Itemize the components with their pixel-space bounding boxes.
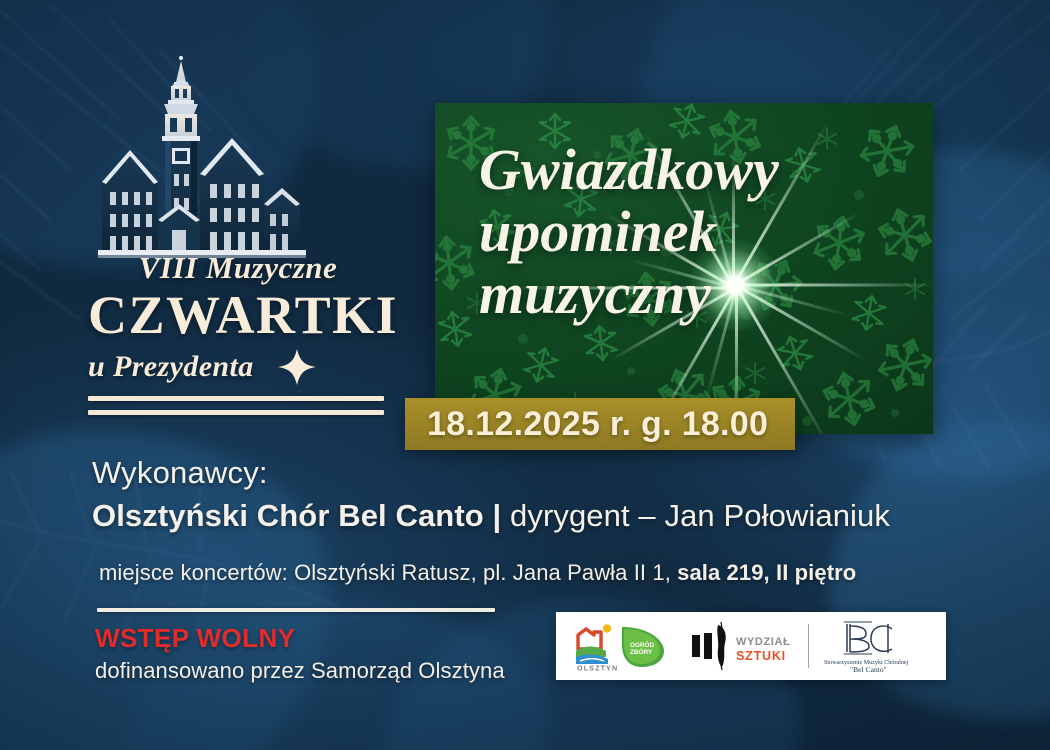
wydzial-sztuki-logo: WYDZIAŁ SZTUKI xyxy=(680,612,808,680)
bel-canto-logo: Stowarzyszenie Muzyki Chóralnej "Bel Can… xyxy=(809,612,935,680)
green-card-heading: Gwiazdkowy upominek muzyczny xyxy=(479,139,899,325)
green-card-heading-line-2: upominek xyxy=(479,201,899,263)
title-line-3: u Prezydenta xyxy=(88,350,254,384)
ogrod-logo-text-1: OGRÓD xyxy=(630,640,655,649)
olsztyn-logo-text: OLSZTYN xyxy=(577,664,618,672)
concert-poster: VIII Muzyczne CZWARTKI u Prezydenta xyxy=(0,0,1050,750)
christmas-green-card: Gwiazdkowy upominek muzyczny xyxy=(435,103,933,434)
ogrod-logo-text-2: ZBÓRY xyxy=(630,647,653,656)
event-title-block: VIII Muzyczne CZWARTKI u Prezydenta xyxy=(88,252,388,415)
title-rules xyxy=(88,396,388,415)
four-point-star-icon xyxy=(264,347,330,387)
venue-address: miejsce koncertów: Olsztyński Ratusz, pl… xyxy=(99,560,677,585)
venue-line: miejsce koncertów: Olsztyński Ratusz, pl… xyxy=(99,560,856,586)
venue-room: sala 219, II piętro xyxy=(677,560,856,585)
funding-text: dofinansowano przez Samorząd Olsztyna xyxy=(95,658,505,684)
olsztyn-logo: OLSZTYN OGRÓD ZBÓRY xyxy=(556,612,680,680)
free-admission-text: WSTĘP WOLNY xyxy=(95,623,295,654)
ensemble-name: Olsztyński Chór Bel Canto xyxy=(92,498,484,533)
sztuki-text: SZTUKI xyxy=(736,649,786,663)
wydzial-text: WYDZIAŁ xyxy=(736,636,790,648)
performers-line: Olsztyński Chór Bel Canto | dyrygent – J… xyxy=(92,498,890,534)
title-line-1: VIII Muzyczne xyxy=(88,252,388,285)
title-rule-2 xyxy=(88,410,384,415)
title-line-2: CZWARTKI xyxy=(88,287,388,344)
olsztyn-town-hall-illustration xyxy=(86,52,316,264)
title-rule-1 xyxy=(88,396,384,401)
date-time-banner: 18.12.2025 r. g. 18.00 xyxy=(405,398,795,450)
bel-canto-caption-2: "Bel Canto" xyxy=(850,665,887,674)
date-time-text: 18.12.2025 r. g. 18.00 xyxy=(405,405,768,444)
divider-rule xyxy=(97,608,495,612)
green-card-heading-line-1: Gwiazdkowy xyxy=(479,139,899,201)
performers-separator: | xyxy=(484,498,510,533)
conductor-name: dyrygent – Jan Połowianiuk xyxy=(510,498,890,533)
sponsor-logo-strip: OLSZTYN OGRÓD ZBÓRY WYDZIAŁ SZTUKI xyxy=(556,612,946,680)
green-card-heading-line-3: muzyczny xyxy=(479,263,899,325)
performers-label: Wykonawcy: xyxy=(92,455,268,491)
